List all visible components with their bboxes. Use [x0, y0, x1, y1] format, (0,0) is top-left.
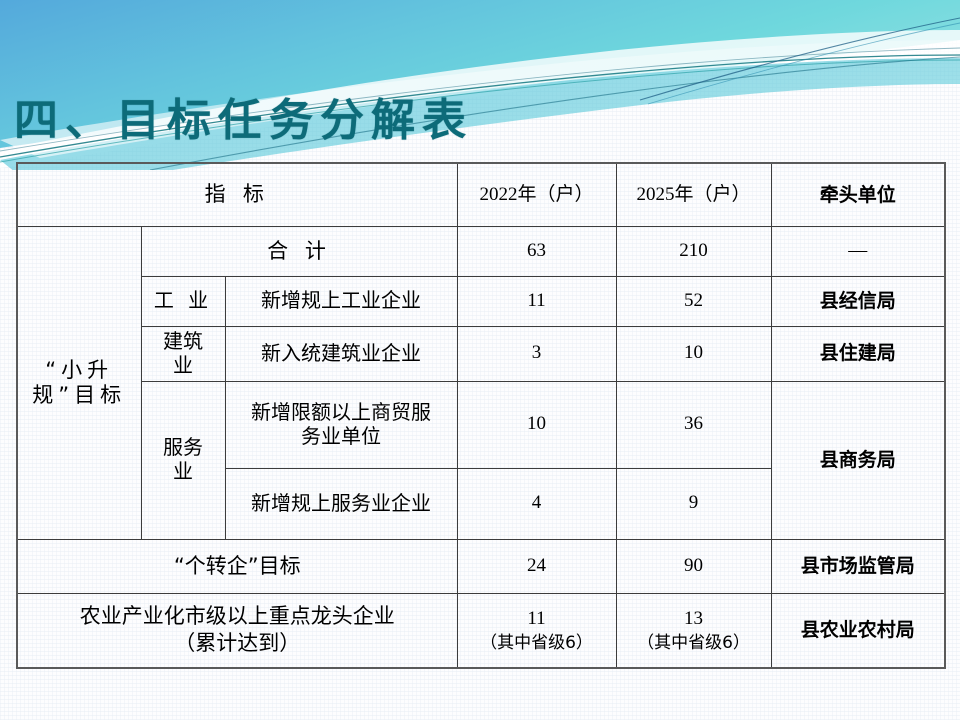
- page-title: 四、目标任务分解表: [14, 84, 473, 148]
- row-service-above-scale-2022: 4: [457, 468, 616, 539]
- table-row: 服务业 新增限额以上商贸服务业单位 10 36 县商务局: [17, 381, 945, 468]
- row-service-above-scale-2025: 9: [616, 468, 771, 539]
- row-construction-2022: 3: [457, 326, 616, 381]
- row-construction-2025: 10: [616, 326, 771, 381]
- table-row: 工 业 新增规上工业企业 11 52 县经信局: [17, 276, 945, 326]
- row-item-service-above-scale: 新增规上服务业企业: [225, 468, 457, 539]
- agriculture-2025-note: （其中省级6）: [620, 632, 768, 654]
- row-construction-dept: 县住建局: [771, 326, 945, 381]
- goal-breakdown-table: 指 标 2022年（户） 2025年（户） 牵头单位 “小升规”目标 合 计 6…: [16, 162, 946, 669]
- row-item-industry: 新增规上工业企业: [225, 276, 457, 326]
- header-year-2022: 2022年（户）: [457, 163, 616, 226]
- row-gezhuanqi-dept: 县市场监管局: [771, 539, 945, 593]
- row-gezhuanqi-2025: 90: [616, 539, 771, 593]
- row-item-service-retail: 新增限额以上商贸服务业单位: [225, 381, 457, 468]
- header-lead-unit: 牵头单位: [771, 163, 945, 226]
- row-industry-2025: 52: [616, 276, 771, 326]
- row-item-total: 合 计: [141, 226, 457, 276]
- row-service-retail-2022: 10: [457, 381, 616, 468]
- row-item-construction: 新入统建筑业企业: [225, 326, 457, 381]
- row-total-2025: 210: [616, 226, 771, 276]
- header-indicator: 指 标: [17, 163, 457, 226]
- table-row: “小升规”目标 合 计 63 210 —: [17, 226, 945, 276]
- table-row: “个转企”目标 24 90 县市场监管局: [17, 539, 945, 593]
- table-header-row: 指 标 2022年（户） 2025年（户） 牵头单位: [17, 163, 945, 226]
- row-industry-dept: 县经信局: [771, 276, 945, 326]
- header-year-2025: 2025年（户）: [616, 163, 771, 226]
- agriculture-2022-note: （其中省级6）: [461, 632, 613, 654]
- row-item-gezhuanqi: “个转企”目标: [17, 539, 457, 593]
- row-service-retail-2025: 36: [616, 381, 771, 468]
- row-agriculture-dept: 县农业农村局: [771, 593, 945, 668]
- row-gezhuanqi-2022: 24: [457, 539, 616, 593]
- row-agriculture-2022: 11 （其中省级6）: [457, 593, 616, 668]
- agriculture-item-line2: （累计达到）: [21, 630, 454, 657]
- row-industry-2022: 11: [457, 276, 616, 326]
- slide-canvas: 四、目标任务分解表 指 标 2022年（户） 2025年（户） 牵头单位: [0, 0, 960, 720]
- agriculture-2025-value: 13: [620, 607, 768, 632]
- row-total-dept: —: [771, 226, 945, 276]
- group-label-construction: 建筑业: [141, 326, 225, 381]
- row-item-agriculture: 农业产业化市级以上重点龙头企业 （累计达到）: [17, 593, 457, 668]
- row-service-dept: 县商务局: [771, 381, 945, 539]
- agriculture-item-line1: 农业产业化市级以上重点龙头企业: [21, 603, 454, 630]
- table-row: 建筑业 新入统建筑业企业 3 10 县住建局: [17, 326, 945, 381]
- row-total-2022: 63: [457, 226, 616, 276]
- group-label-industry: 工 业: [141, 276, 225, 326]
- agriculture-2022-value: 11: [461, 607, 613, 632]
- row-agriculture-2025: 13 （其中省级6）: [616, 593, 771, 668]
- table-row: 农业产业化市级以上重点龙头企业 （累计达到） 11 （其中省级6） 13 （其中…: [17, 593, 945, 668]
- goal-breakdown-table-wrapper: 指 标 2022年（户） 2025年（户） 牵头单位 “小升规”目标 合 计 6…: [16, 162, 944, 669]
- group-label-service: 服务业: [141, 381, 225, 539]
- group-label-xiaoshenggui: “小升规”目标: [17, 226, 141, 539]
